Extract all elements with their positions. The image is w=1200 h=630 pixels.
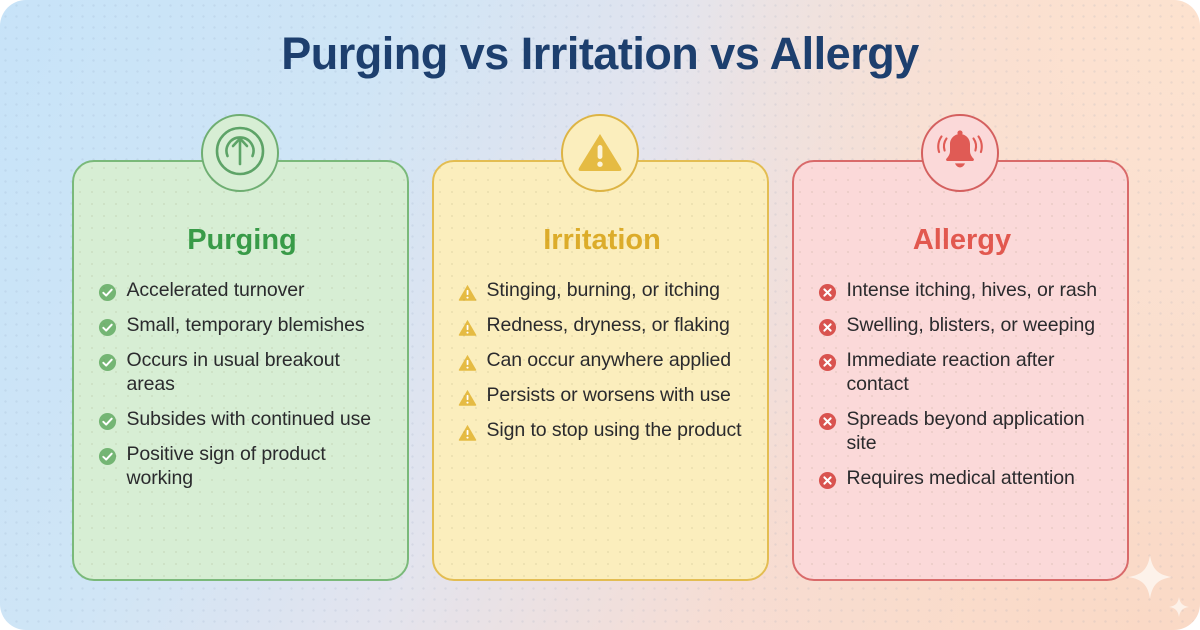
check-circle-icon [98, 447, 117, 466]
list-item-text: Occurs in usual breakout areas [127, 349, 387, 397]
badge-irritation [561, 114, 639, 192]
list-item: Redness, dryness, or flaking [458, 314, 747, 338]
list-item: Stinging, burning, or itching [458, 279, 747, 303]
x-circle-icon [818, 353, 837, 372]
list-item: Persists or worsens with use [458, 384, 747, 408]
card-purging: Purging Accelerated turnover Small, temp… [72, 160, 409, 581]
check-circle-icon [98, 318, 117, 337]
list-item-text: Redness, dryness, or flaking [487, 314, 730, 338]
list-item-text: Intense itching, hives, or rash [847, 279, 1098, 303]
x-circle-icon [818, 471, 837, 490]
badge-allergy [921, 114, 999, 192]
list-item: Occurs in usual breakout areas [98, 349, 387, 397]
circular-arrow-up-icon [213, 124, 267, 183]
warning-triangle-icon [458, 283, 477, 302]
x-circle-icon [818, 412, 837, 431]
warning-triangle-icon [458, 388, 477, 407]
badge-purging [201, 114, 279, 192]
list-irritation: Stinging, burning, or itching Redness, d… [458, 279, 747, 443]
list-item-text: Small, temporary blemishes [127, 314, 365, 338]
list-item: Positive sign of product working [98, 443, 387, 491]
list-item-text: Can occur anywhere applied [487, 349, 732, 373]
list-item: Spreads beyond application site [818, 408, 1107, 456]
x-circle-icon [818, 283, 837, 302]
card-heading-irritation: Irritation [458, 224, 747, 257]
check-circle-icon [98, 412, 117, 431]
list-item: Small, temporary blemishes [98, 314, 387, 338]
list-item-text: Stinging, burning, or itching [487, 279, 720, 303]
list-item-text: Immediate reaction after contact [847, 349, 1107, 397]
list-item: Can occur anywhere applied [458, 349, 747, 373]
check-circle-icon [98, 353, 117, 372]
ringing-bell-icon [934, 125, 986, 182]
list-item-text: Swelling, blisters, or weeping [847, 314, 1095, 338]
list-item-text: Accelerated turnover [127, 279, 305, 303]
card-irritation: Irritation Stinging, burning, or itching [432, 160, 769, 581]
warning-triangle-icon [458, 353, 477, 372]
warning-triangle-icon [575, 126, 625, 181]
infographic-canvas: Purging vs Irritation vs Allergy Purging [0, 0, 1200, 630]
list-item-text: Positive sign of product working [127, 443, 387, 491]
list-item: Immediate reaction after contact [818, 349, 1107, 397]
list-item: Accelerated turnover [98, 279, 387, 303]
list-item-text: Subsides with continued use [127, 408, 371, 432]
warning-triangle-icon [458, 318, 477, 337]
page-title: Purging vs Irritation vs Allergy [0, 28, 1200, 80]
warning-triangle-icon [458, 423, 477, 442]
list-item: Swelling, blisters, or weeping [818, 314, 1107, 338]
card-heading-purging: Purging [98, 224, 387, 257]
comparison-cards-row: Purging Accelerated turnover Small, temp… [0, 160, 1200, 585]
x-circle-icon [818, 318, 837, 337]
list-item: Requires medical attention [818, 467, 1107, 491]
list-item-text: Persists or worsens with use [487, 384, 731, 408]
check-circle-icon [98, 283, 117, 302]
card-allergy: Allergy Intense itching, hives, or rash … [792, 160, 1129, 581]
card-heading-allergy: Allergy [818, 224, 1107, 257]
list-item-text: Spreads beyond application site [847, 408, 1107, 456]
list-allergy: Intense itching, hives, or rash Swelling… [818, 279, 1107, 491]
list-item-text: Requires medical attention [847, 467, 1075, 491]
list-item-text: Sign to stop using the product [487, 419, 742, 443]
list-item: Sign to stop using the product [458, 419, 747, 443]
list-item: Intense itching, hives, or rash [818, 279, 1107, 303]
list-item: Subsides with continued use [98, 408, 387, 432]
list-purging: Accelerated turnover Small, temporary bl… [98, 279, 387, 491]
sparkle-small-icon [1168, 596, 1190, 618]
